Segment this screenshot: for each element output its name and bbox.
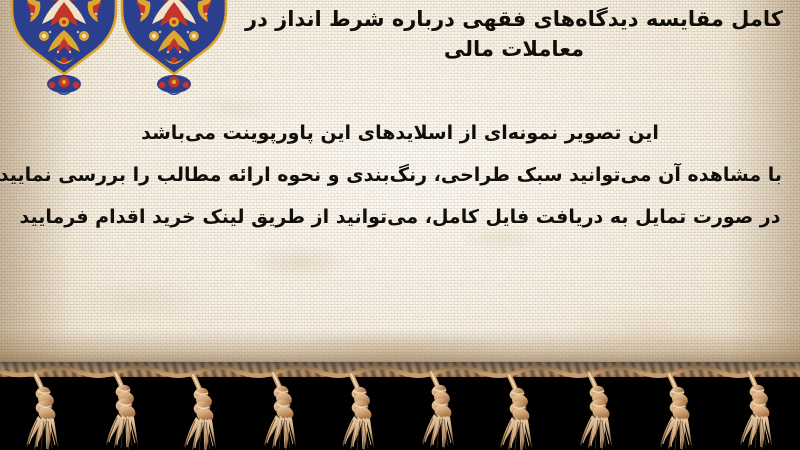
fringe-top-shadow [0,362,800,374]
title-line-2: مالی [444,37,494,61]
title-line-1: کامل مقایسه دیدگاه‌های فقهی درباره شرط ا… [245,7,783,61]
body-line-1: این تصویر نمونه‌ای از اسلایدهای این پاور… [18,112,782,154]
slide-body: این تصویر نمونه‌ای از اسلایدهای این پاور… [18,112,782,239]
slide-title: کامل مقایسه دیدگاه‌های فقهی درباره شرط ا… [236,4,792,64]
paper-edge-shadow [0,330,800,364]
body-line-2: با مشاهده آن می‌توانید سبک طراحی، رنگ‌بن… [18,154,782,196]
tassel-fringe [0,362,800,450]
fringe-tassels-icon [0,362,800,450]
slide-canvas: کامل مقایسه دیدگاه‌های فقهی درباره شرط ا… [0,0,800,450]
body-line-3: در صورت تمایل به دریافت فایل کامل، می‌تو… [18,196,782,238]
